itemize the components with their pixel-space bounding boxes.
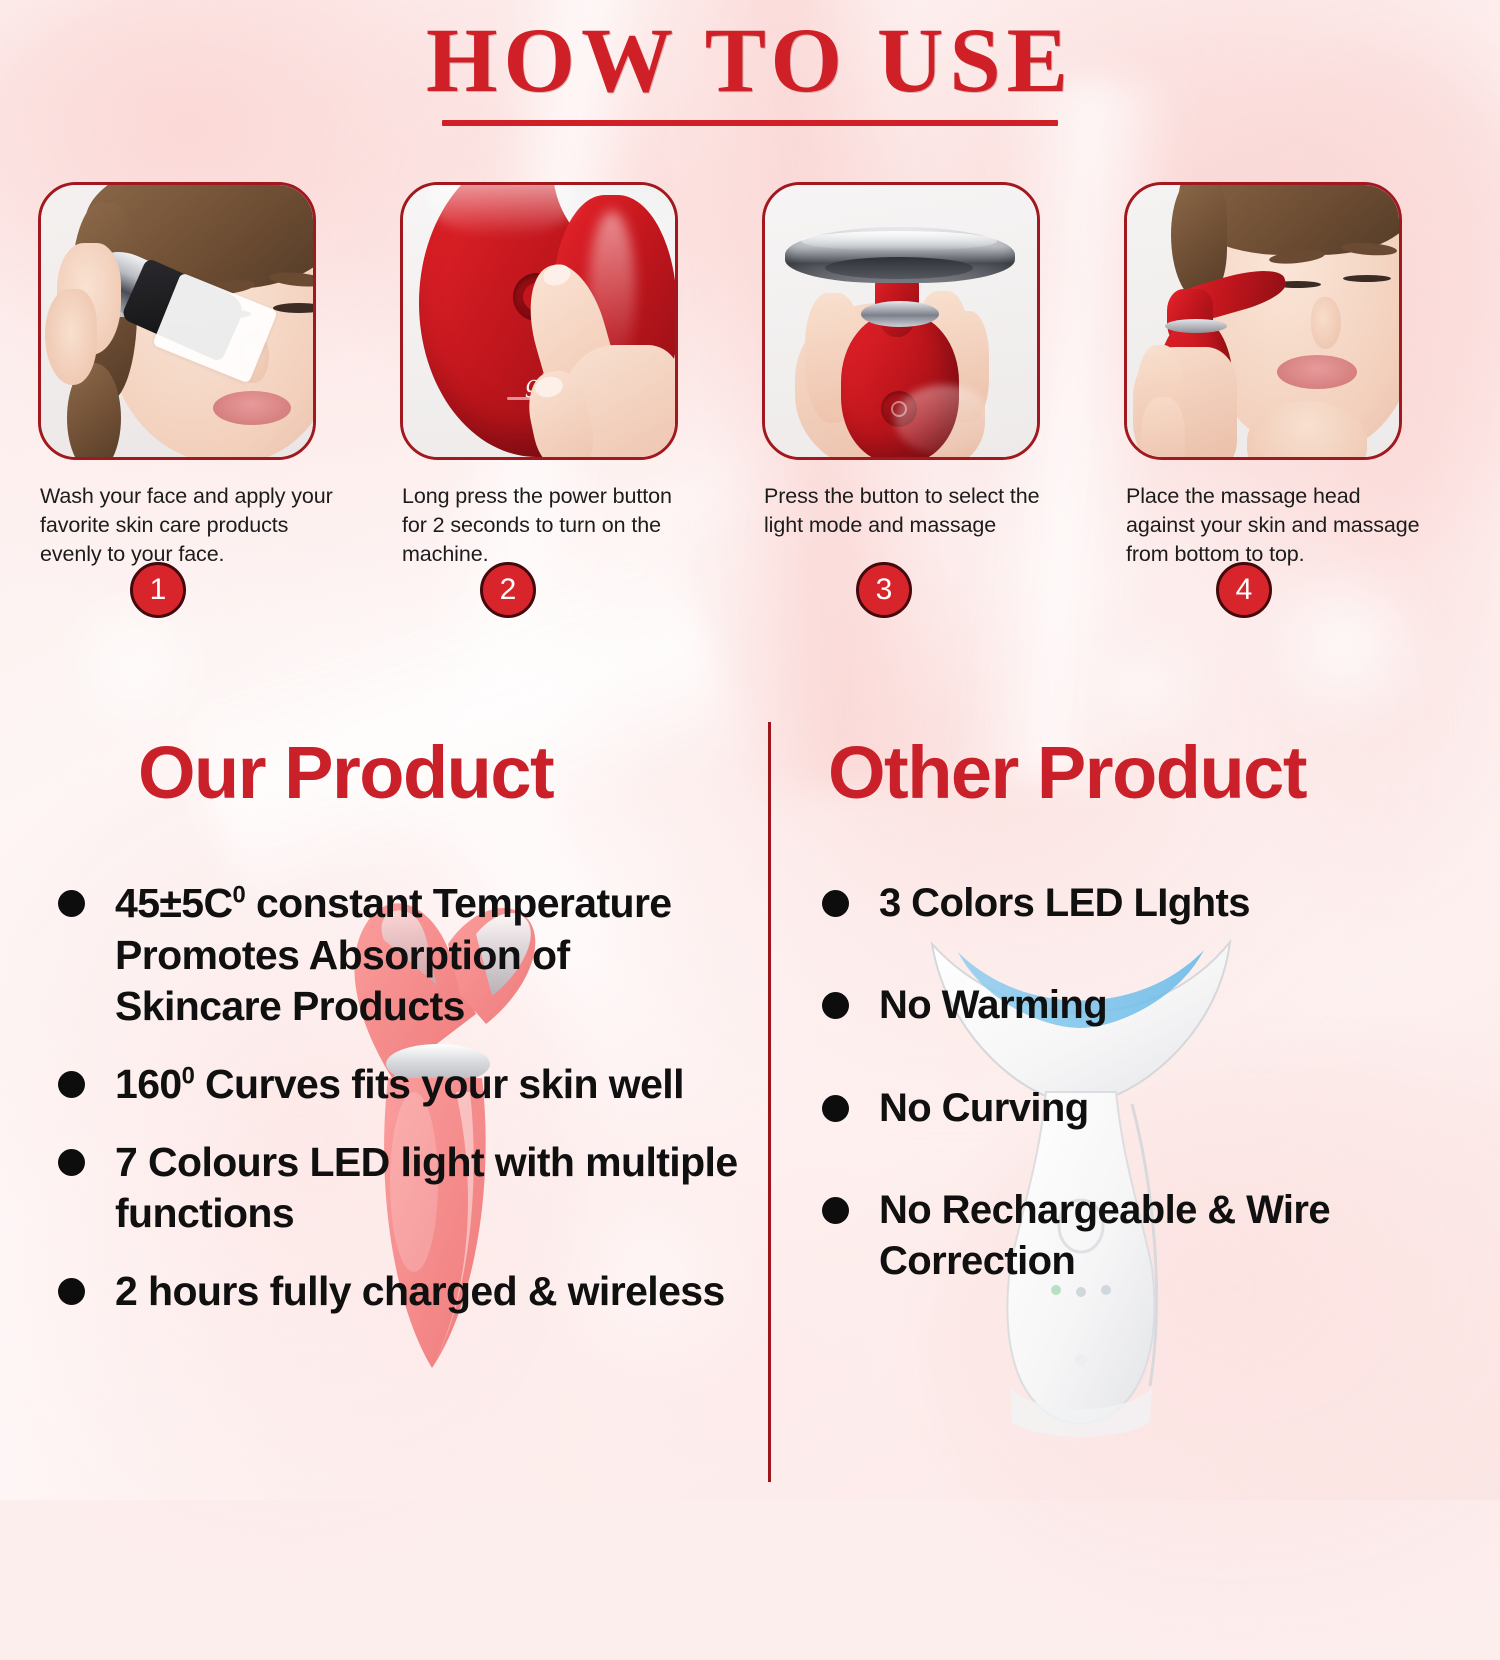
bullet-text: 3 Colors LED LIghts — [879, 878, 1250, 928]
our-product-heading: Our Product — [138, 736, 740, 810]
step-3-photo — [762, 182, 1040, 460]
bullet-dot-icon — [822, 1197, 849, 1224]
bullet-text: 7 Colours LED light with multiple functi… — [115, 1137, 740, 1240]
other-product-column: Other Product — [800, 736, 1480, 1338]
step-badge-4: 4 — [1216, 562, 1272, 618]
page-title: HOW TO USE — [0, 14, 1500, 106]
bullet-superscript: 0 — [233, 881, 246, 908]
bullet-text-suffix: Curves fits your skin well — [194, 1061, 684, 1107]
list-item: 45±5C0 constant Temperature Promotes Abs… — [58, 878, 740, 1033]
step-card-2: glow Long press the power button for 2 s… — [388, 182, 750, 570]
bullet-superscript: 0 — [182, 1062, 195, 1089]
step-4-photo — [1124, 182, 1402, 460]
step-4-caption: Place the massage head against your skin… — [1126, 482, 1426, 570]
our-product-bullets: 45±5C0 constant Temperature Promotes Abs… — [40, 878, 740, 1318]
product-comparison: Our Product — [0, 736, 1500, 1476]
step-badge-3: 3 — [856, 562, 912, 618]
bullet-dot-icon — [58, 890, 85, 917]
how-to-use-steps: Wash your face and apply your favorite s… — [0, 182, 1500, 570]
other-product-heading: Other Product — [828, 736, 1480, 810]
list-item: No Warming — [822, 980, 1480, 1030]
step-1-photo — [38, 182, 316, 460]
list-item: 3 Colors LED LIghts — [822, 878, 1480, 928]
bullet-text-prefix: 160 — [115, 1061, 182, 1107]
bullet-dot-icon — [58, 1278, 85, 1305]
step-card-1: Wash your face and apply your favorite s… — [26, 182, 388, 570]
list-item: 7 Colours LED light with multiple functi… — [58, 1137, 740, 1240]
step-3-caption: Press the button to select the light mod… — [764, 482, 1064, 540]
our-product-column: Our Product — [40, 736, 740, 1344]
step-2-photo: glow — [400, 182, 678, 460]
step-card-3: Press the button to select the light mod… — [750, 182, 1112, 570]
bullet-dot-icon — [58, 1071, 85, 1098]
bullet-text: 2 hours fully charged & wireless — [115, 1266, 725, 1318]
bullet-dot-icon — [822, 1095, 849, 1122]
step-2-caption: Long press the power button for 2 second… — [402, 482, 702, 570]
list-item: 2 hours fully charged & wireless — [58, 1266, 740, 1318]
step-1-caption: Wash your face and apply your favorite s… — [40, 482, 340, 570]
bullet-dot-icon — [822, 992, 849, 1019]
bullet-text-prefix: 45±5C — [115, 880, 233, 926]
list-item: No Curving — [822, 1083, 1480, 1133]
bullet-text: No Rechargeable & Wire Correction — [879, 1185, 1480, 1286]
list-item: No Rechargeable & Wire Correction — [822, 1185, 1480, 1286]
bullet-dot-icon — [58, 1149, 85, 1176]
bullet-text: No Warming — [879, 980, 1107, 1030]
bullet-dot-icon — [822, 890, 849, 917]
list-item: 1600 Curves fits your skin well — [58, 1059, 740, 1111]
page-header: HOW TO USE — [0, 14, 1500, 126]
step-card-4: Place the massage head against your skin… — [1112, 182, 1474, 570]
title-underline-rule — [442, 120, 1058, 126]
other-product-bullets: 3 Colors LED LIghts No Warming No Curvin… — [800, 878, 1480, 1286]
step-badge-2: 2 — [480, 562, 536, 618]
bullet-text: No Curving — [879, 1083, 1089, 1133]
step-badge-1: 1 — [130, 562, 186, 618]
